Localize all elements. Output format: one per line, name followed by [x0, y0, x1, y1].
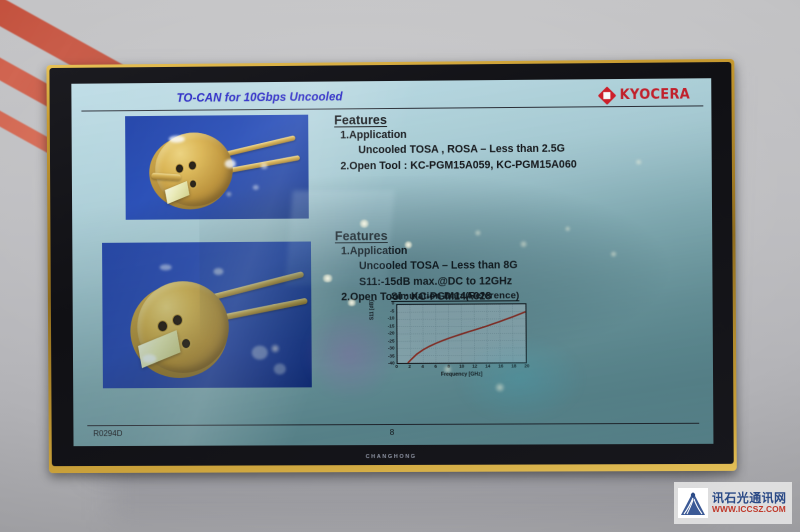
to-can-lead-hole [172, 314, 183, 326]
to-can-lead-hole [181, 338, 191, 349]
kyocera-diamond-mark-icon [598, 86, 616, 104]
presentation-slide: TO-CAN for 10Gbps Uncooled KYOCERA [71, 78, 713, 446]
chart-y-tick-label: 0 [392, 302, 395, 307]
slide-footer: R0294D 8 [87, 423, 699, 443]
highlight-glint [274, 364, 286, 375]
kyocera-logo: KYOCERA [601, 86, 694, 103]
features-heading: Features [334, 111, 576, 127]
chart-y-tick-label: -40 [388, 362, 395, 367]
features-line: Uncooled TOSA – Less than 8G [335, 259, 518, 275]
highlight-glint [142, 354, 156, 363]
slide-body: Features 1.Application Uncooled TOSA , R… [85, 110, 699, 424]
chart-x-axis-label: Frequency [GHz] [397, 371, 527, 378]
television-display: CHANGHONG TO-CAN for 10Gbps Uncooled KYO… [46, 59, 736, 473]
chart-x-tick-label: 0 [395, 365, 398, 370]
highlight-glint [253, 185, 259, 190]
watermark-logo-svg [678, 488, 708, 518]
chart-x-tick-label: 20 [524, 364, 529, 369]
chart-y-tick-label: -35 [388, 354, 395, 359]
highlight-glint [252, 346, 268, 360]
chart-svg [397, 304, 526, 363]
highlight-glint [261, 163, 268, 169]
chart-x-tick-label: 4 [421, 365, 424, 370]
to-can-lead-hole [175, 164, 184, 174]
chart-x-tick-label: 16 [498, 364, 503, 369]
features-line: Uncooled TOSA , ROSA – Less than 2.5G [334, 142, 576, 159]
chart-plot-area: S11 [dB] 0-5-10-15-20-25-30-35-40 024681… [371, 303, 540, 380]
watermark-text: 讯石光通讯网 WWW.ICCSZ.COM [712, 492, 786, 513]
highlight-glint [213, 268, 223, 275]
to-can-lead-hole [188, 160, 197, 170]
chart-x-tick-label: 12 [472, 365, 477, 370]
highlight-glint [160, 264, 172, 270]
tv-bezel: CHANGHONG TO-CAN for 10Gbps Uncooled KYO… [49, 62, 733, 466]
chart-x-tick-label: 8 [447, 365, 450, 370]
chart-x-tick-label: 10 [459, 365, 464, 370]
triangle-wave-logo-icon [678, 488, 708, 518]
watermark-chinese: 讯石光通讯网 [712, 492, 786, 504]
page-number: 8 [87, 427, 699, 438]
tv-screen: TO-CAN for 10Gbps Uncooled KYOCERA [71, 78, 713, 446]
to-can-illustration [102, 242, 312, 389]
simulation-chart: Simulation Data(Reference) S11 [dB] 0-5-… [371, 290, 540, 380]
features-block-1: Features 1.Application Uncooled TOSA , R… [334, 111, 577, 174]
chart-x-tick-label: 18 [511, 364, 516, 369]
chart-x-tick-label: 6 [434, 365, 437, 370]
features-line: S11:-15dB max.@DC to 12GHz [335, 274, 518, 290]
site-watermark: 讯石光通讯网 WWW.ICCSZ.COM [674, 482, 792, 524]
watermark-url: WWW.ICCSZ.COM [712, 505, 786, 513]
slide-title: TO-CAN for 10Gbps Uncooled [177, 91, 343, 104]
to-can-lead-hole [189, 179, 197, 188]
features-line: 1.Application [335, 243, 518, 260]
chart-x-tick-label: 14 [485, 365, 490, 370]
to-can-lead-hole [157, 320, 168, 332]
kyocera-wordmark: KYOCERA [620, 86, 690, 103]
highlight-glint [225, 159, 236, 168]
chart-canvas [396, 303, 527, 364]
chart-x-tick-label: 2 [408, 365, 411, 370]
chart-y-tick-label: -10 [388, 317, 395, 322]
chart-y-ticks: 0-5-10-15-20-25-30-35-40 [379, 304, 394, 364]
features-heading: Features [335, 228, 518, 243]
chart-y-tick-label: -20 [388, 332, 395, 337]
chart-y-tick-label: -15 [388, 324, 395, 329]
chart-y-tick-label: -5 [390, 309, 394, 314]
chart-title: Simulation Data(Reference) [371, 290, 539, 302]
chart-y-tick-label: -25 [388, 339, 395, 344]
to-can-illustration [125, 115, 309, 220]
chart-y-tick-label: -30 [388, 347, 395, 352]
tv-brand-label: CHANGHONG [52, 450, 734, 464]
product-image-bottom [102, 242, 312, 389]
features-line: 2.Open Tool : KC-PGM15A059, KC-PGM15A060 [334, 157, 576, 174]
product-image-top [125, 115, 309, 220]
chart-y-axis-label: S11 [dB] [369, 300, 375, 320]
